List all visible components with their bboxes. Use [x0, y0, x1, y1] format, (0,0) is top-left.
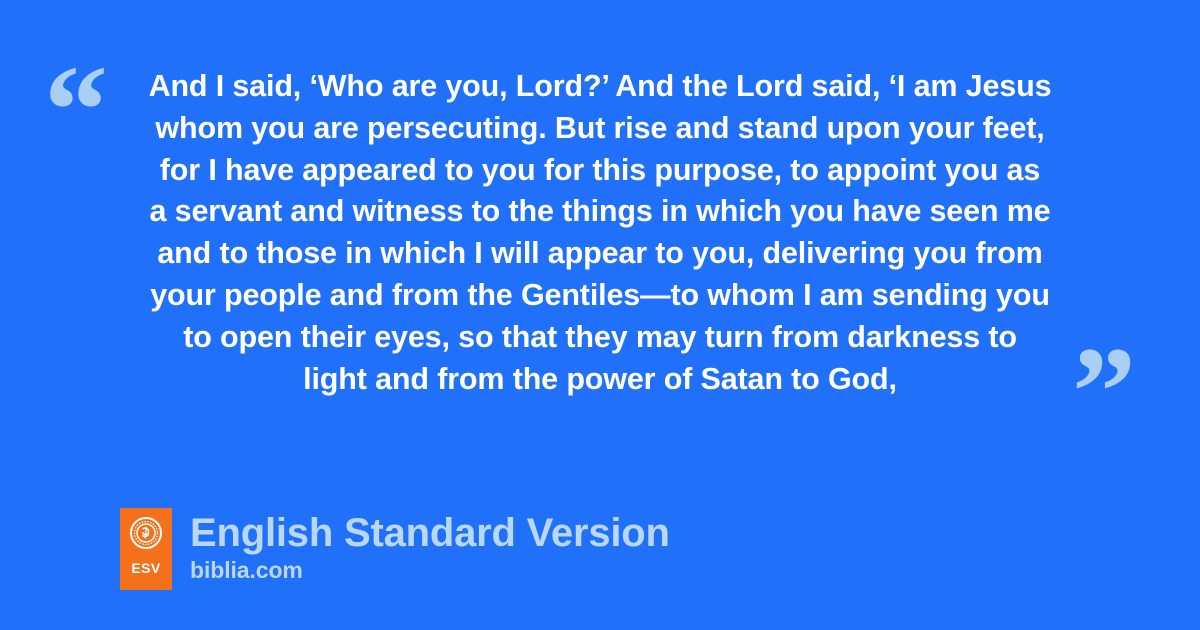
quote-line: for I have appeared to you for this purp… — [110, 150, 1090, 192]
opening-quote-icon: “ — [44, 46, 108, 174]
quote-line: a servant and witness to the things in w… — [110, 191, 1090, 233]
esv-badge: ESV — [120, 508, 172, 590]
esv-badge-label: ESV — [131, 561, 160, 575]
attribution-text: English Standard Version biblia.com — [190, 508, 670, 584]
esv-seal-icon — [130, 517, 162, 549]
quote-block: “ And I said, ‘Who are you, Lord?’ And t… — [0, 38, 1200, 428]
source-site-name: biblia.com — [190, 556, 670, 584]
attribution: ESV English Standard Version biblia.com — [120, 508, 670, 590]
quote-line: whom you are persecuting. But rise and s… — [110, 108, 1090, 150]
quote-text: And I said, ‘Who are you, Lord?’ And the… — [110, 66, 1090, 400]
quote-card: “ And I said, ‘Who are you, Lord?’ And t… — [0, 0, 1200, 630]
bible-version-name: English Standard Version — [190, 510, 670, 556]
quote-line: to open their eyes, so that they may tur… — [110, 317, 1090, 359]
closing-quote-icon: ” — [1072, 328, 1136, 456]
quote-line: and to those in which I will appear to y… — [110, 233, 1090, 275]
quote-line: And I said, ‘Who are you, Lord?’ And the… — [110, 66, 1090, 108]
quote-line: your people and from the Gentiles—to who… — [110, 275, 1090, 317]
quote-line: light and from the power of Satan to God… — [110, 359, 1090, 401]
